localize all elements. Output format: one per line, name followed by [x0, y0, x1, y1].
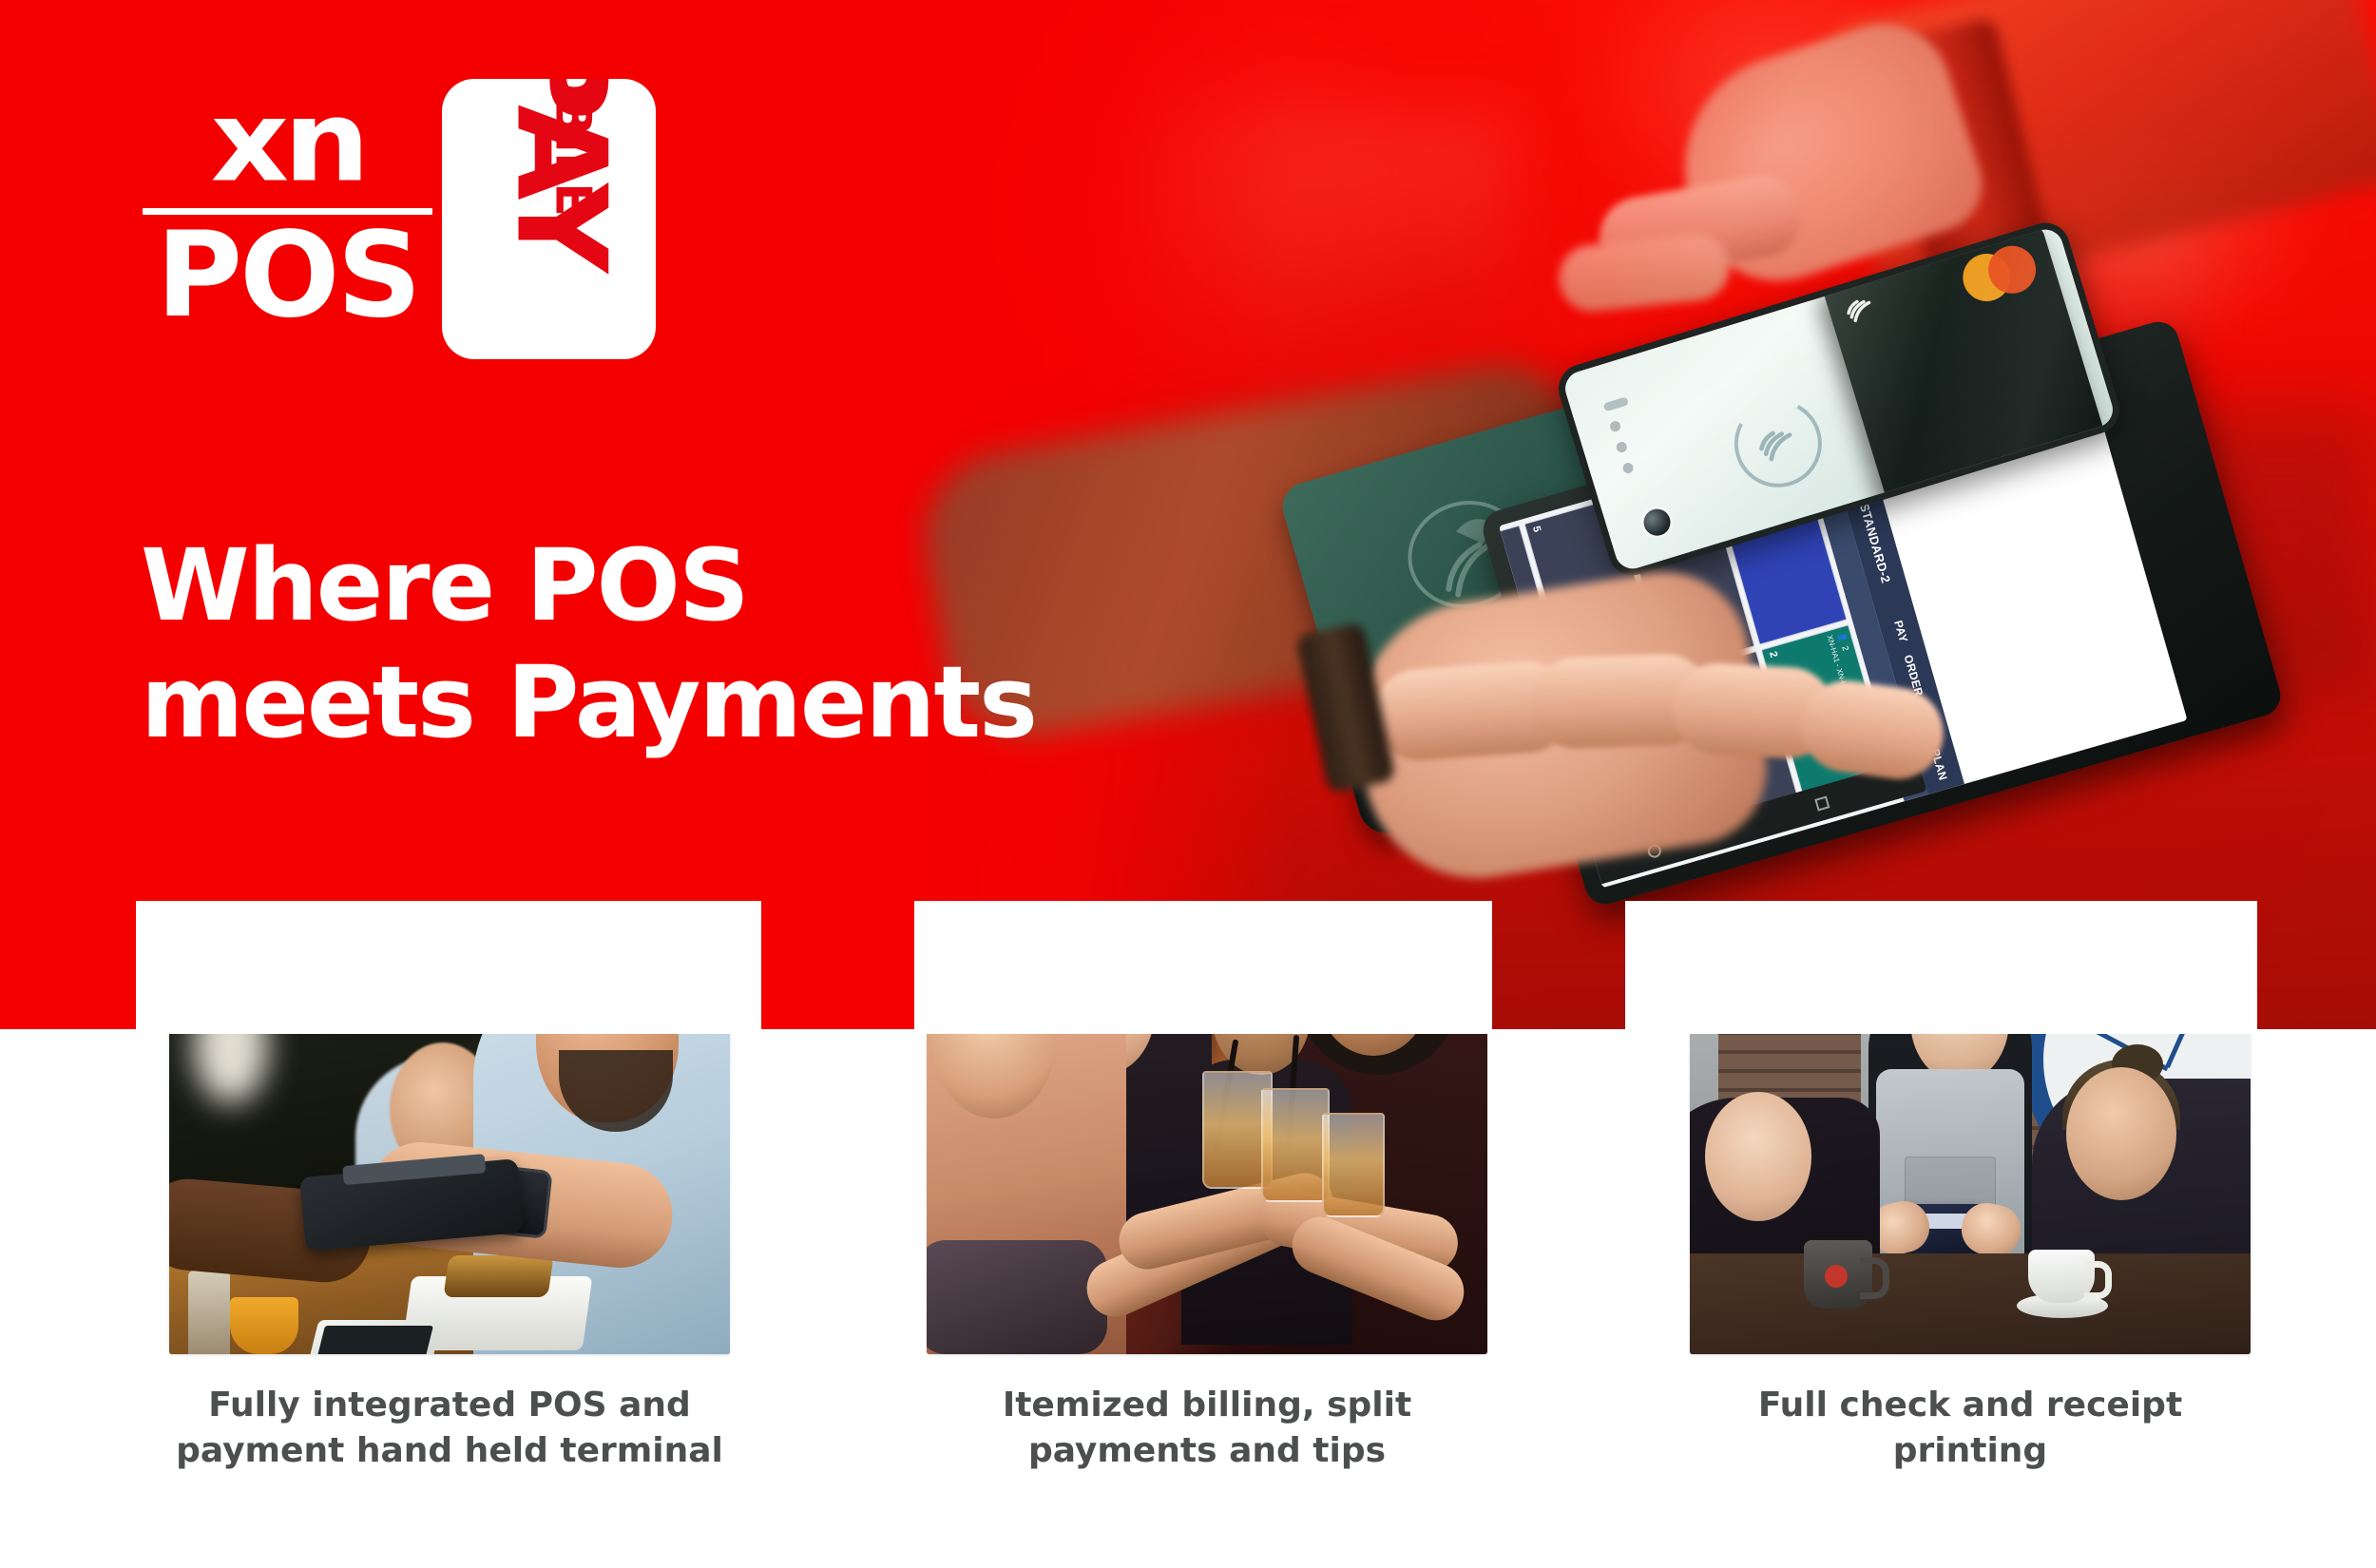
- poster-canvas: adyen 👤 2 TBL# STANDARD-2: [0, 0, 2376, 1568]
- caption-line-2: payment hand held terminal: [169, 1428, 730, 1474]
- pos-action-pay[interactable]: PAY: [1891, 619, 1910, 644]
- brand-logo: xn POS PAY MOBILE: [143, 81, 656, 375]
- page-title: Where POS meets Payments: [141, 527, 1262, 760]
- feature-caption-2: Itemized billing, split payments and tip…: [927, 1383, 1487, 1473]
- caption-line-1: Itemized billing, split: [927, 1383, 1487, 1428]
- mobile-pay-badge: PAY MOBILE: [442, 79, 656, 359]
- phone-speaker-grille: [1600, 389, 1677, 483]
- caption-line-2: printing: [1690, 1428, 2251, 1474]
- logo-pos-text: POS: [143, 220, 432, 333]
- phone-camera-lens: [1640, 506, 1674, 539]
- caption-line-1: Fully integrated POS and: [169, 1383, 730, 1428]
- notch-column-3: [1625, 901, 2257, 1034]
- caption-line-2: payments and tips: [927, 1428, 1487, 1474]
- headline-line-2: meets Payments: [141, 644, 1262, 761]
- table-number: 2: [1767, 650, 1779, 659]
- feature-caption-3: Full check and receipt printing: [1690, 1383, 2251, 1473]
- caption-line-1: Full check and receipt: [1690, 1383, 2251, 1428]
- logo-xn-text: xn: [143, 91, 432, 194]
- square-icon[interactable]: [1814, 795, 1830, 811]
- notch-column-1: [136, 901, 761, 1034]
- table-guests: 2: [1839, 645, 1849, 653]
- guest-icon: 👤: [1835, 631, 1848, 644]
- badge-mobile-text: MOBILE: [540, 79, 606, 253]
- headline-line-1: Where POS: [141, 527, 1262, 644]
- feature-caption-1: Fully integrated POS and payment hand he…: [169, 1383, 730, 1473]
- feature-row: Fully integrated POS and payment hand he…: [0, 1029, 2376, 1568]
- table-number: 5: [1530, 525, 1542, 533]
- notch-column-2: [914, 901, 1492, 1034]
- hero-banner: adyen 👤 2 TBL# STANDARD-2: [0, 0, 2376, 1029]
